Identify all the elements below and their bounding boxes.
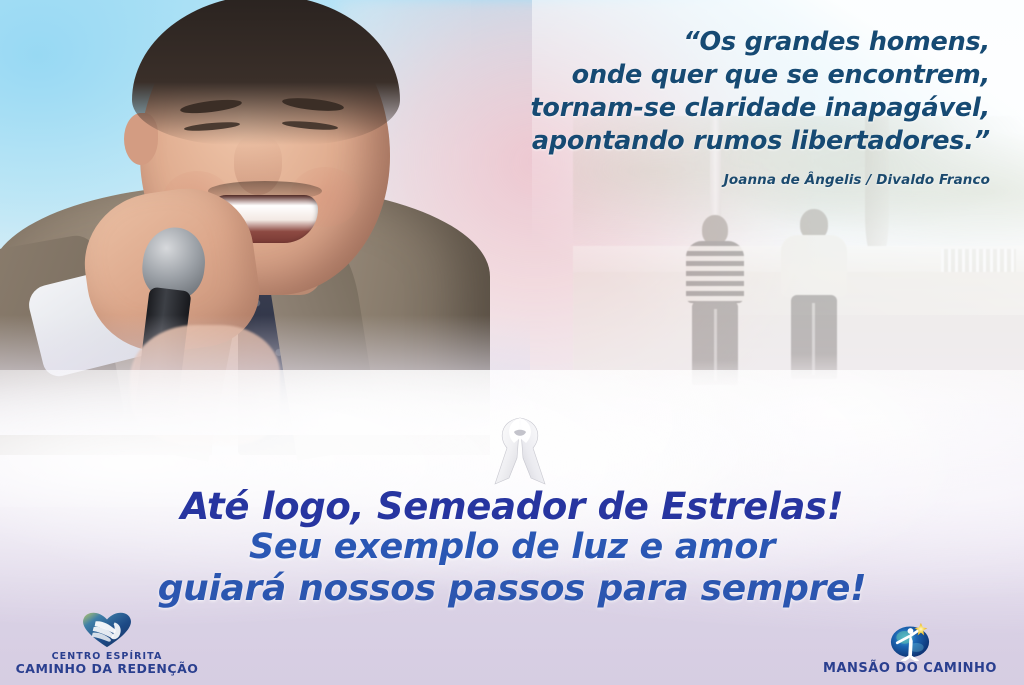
logo-right-line-1: MANSÃO DO CAMINHO <box>810 663 1010 675</box>
portrait-hair <box>132 0 400 145</box>
quote-line-3: tornam-se claridade inapagável, <box>430 92 990 125</box>
quote-line-4: apontando rumos libertadores.” <box>430 125 990 158</box>
headline-line-1: Até logo, Semeador de Estrelas! <box>0 486 1024 527</box>
headline-block: Até logo, Semeador de Estrelas! Seu exem… <box>0 486 1024 609</box>
logo-left-text: CENTRO ESPÍRITA CAMINHO DA REDENÇÃO <box>14 651 200 675</box>
hands-heart-icon <box>14 609 200 649</box>
globe-figure-star-icon <box>810 621 1010 661</box>
headline-line-3: guiará nossos passos para sempre! <box>0 568 1024 609</box>
logo-mansao-do-caminho: MANSÃO DO CAMINHO <box>810 621 1010 675</box>
logo-left-line-2: CAMINHO DA REDENÇÃO <box>14 663 200 675</box>
logo-right-text: MANSÃO DO CAMINHO <box>810 663 1010 675</box>
quote-attribution: Joanna de Ângelis / Divaldo Franco <box>430 172 990 188</box>
photo-person-torso <box>781 235 847 297</box>
quote-line-2: onde quer que se encontrem, <box>430 59 990 92</box>
quote-block: “Os grandes homens, onde quer que se enc… <box>430 26 990 158</box>
white-ribbon-icon <box>487 410 553 490</box>
quote-line-1: “Os grandes homens, <box>430 26 990 59</box>
memorial-poster: “Os grandes homens, onde quer que se enc… <box>0 0 1024 685</box>
photo-person-torso <box>686 241 744 303</box>
logo-centro-espirita: CENTRO ESPÍRITA CAMINHO DA REDENÇÃO <box>14 609 200 675</box>
headline-line-2: Seu exemplo de luz e amor <box>0 527 1024 568</box>
